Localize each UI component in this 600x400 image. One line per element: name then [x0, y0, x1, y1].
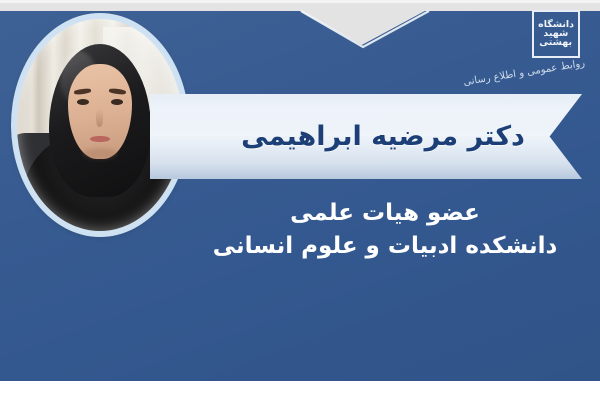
subtitle-role: عضو هیات علمی	[185, 197, 585, 230]
faculty-announcement-card: دکتر مرضیه ابراهیمی عضو هیات علمی دانشکد…	[0, 0, 600, 400]
top-hairline	[0, 0, 600, 3]
university-logo: دانشگاه شهید بهشتی روابط عمومی و اطلاع ر…	[476, 6, 586, 98]
subtitle-faculty: دانشکده ادبیات و علوم انسانی	[185, 230, 585, 263]
faculty-name-text: دکتر مرضیه ابراهیمی	[150, 94, 582, 179]
nose	[96, 108, 103, 127]
university-logo-mark-text: دانشگاه شهید بهشتی	[537, 15, 575, 53]
subtitle-block: عضو هیات علمی دانشکده ادبیات و علوم انسا…	[185, 197, 585, 262]
chin-shadow	[83, 148, 116, 159]
university-logo-mark-icon: دانشگاه شهید بهشتی	[532, 10, 580, 58]
eye-left	[77, 99, 89, 105]
logo-word-beheshti: بهشتی	[540, 39, 573, 48]
eye-right	[111, 99, 123, 105]
